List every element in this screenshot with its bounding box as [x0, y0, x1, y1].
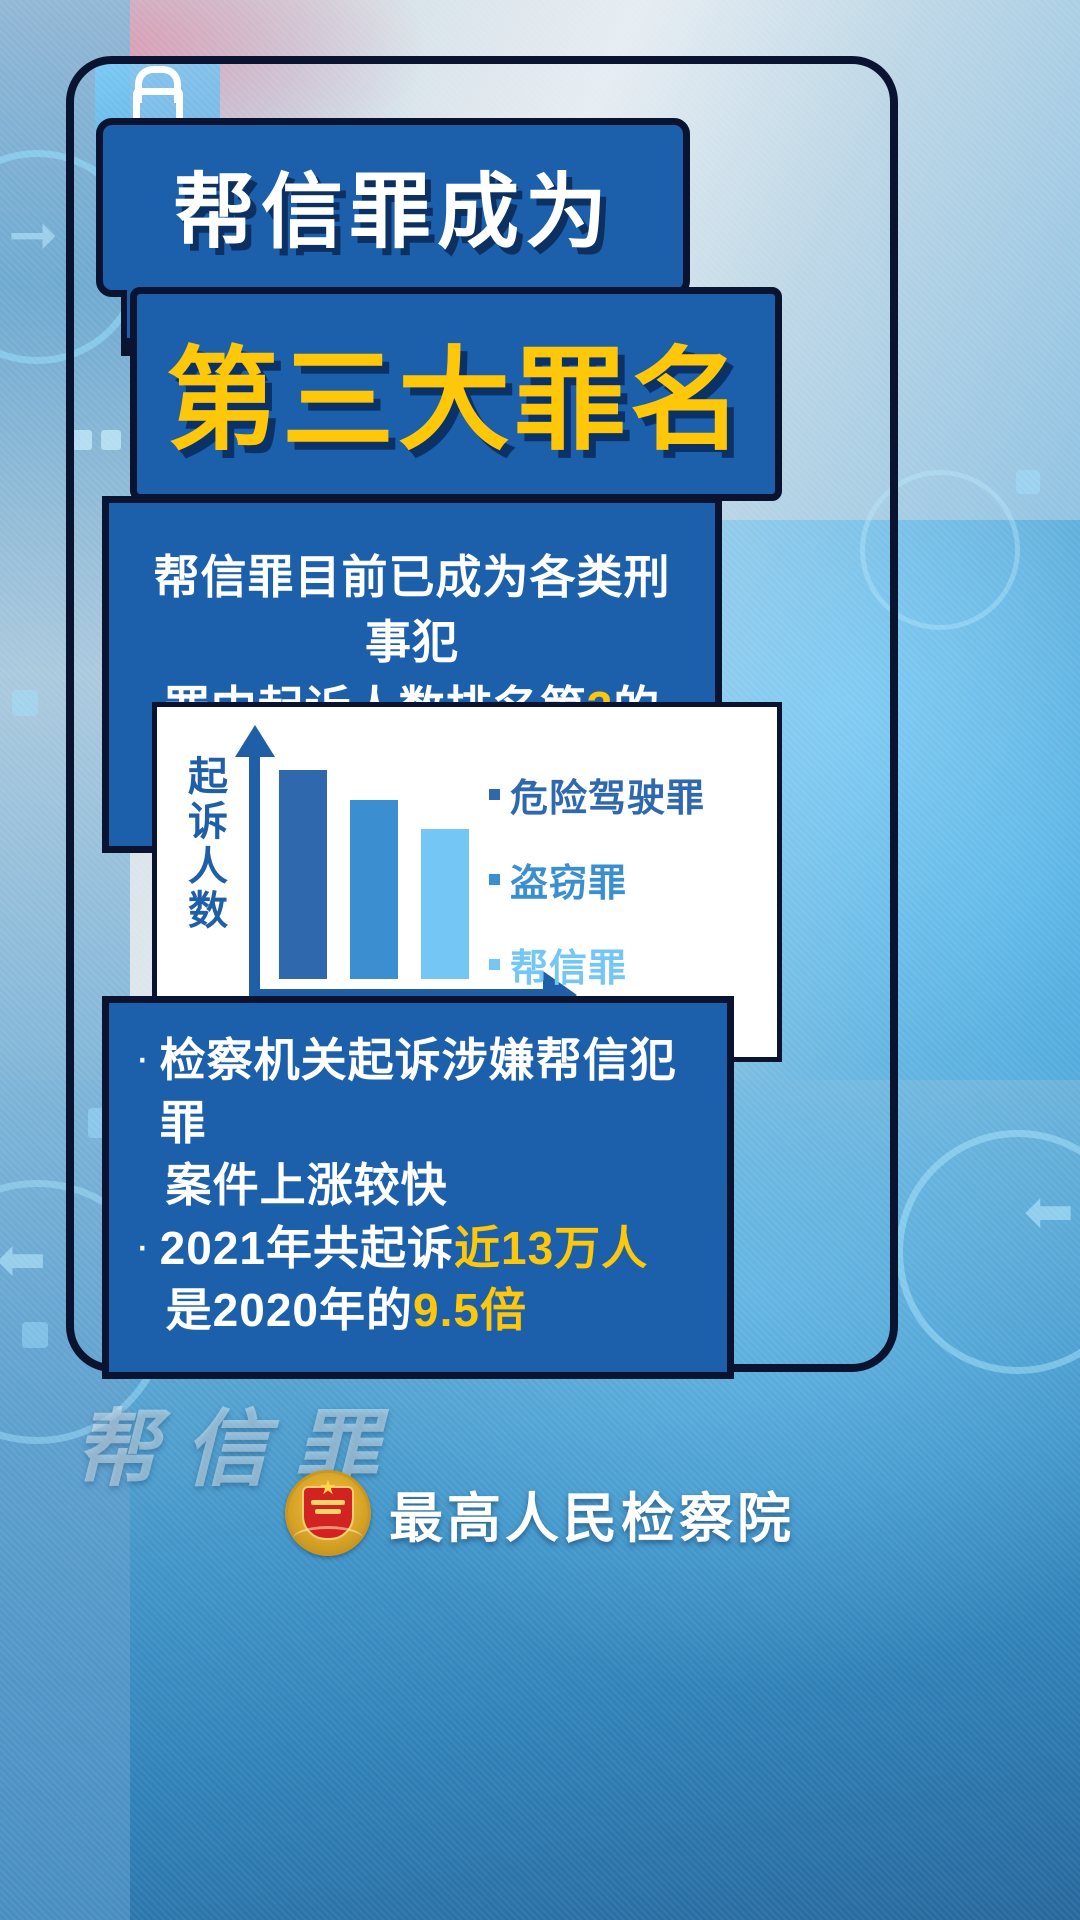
bullet-2-stat-multiple: 9.5倍 [413, 1284, 527, 1336]
title-banner-primary: 帮信罪成为 [96, 118, 690, 297]
bar-theft [350, 800, 398, 979]
legend-item-theft: 盗窃罪 [489, 852, 759, 907]
bullet-2-stat-people: 近13万人 [454, 1222, 648, 1274]
y-axis-char-1: 起 [181, 755, 235, 800]
procuratorate-emblem-icon: ★ [285, 1470, 371, 1556]
bullet-1-line-1: 检察机关起诉涉嫌帮信犯罪 [160, 1034, 677, 1149]
bullet-2-line-2-before: 是2020年的 [166, 1284, 413, 1336]
legend-label-theft: 盗窃罪 [510, 852, 627, 907]
bullet-marker-icon: · [135, 1029, 150, 1088]
summary-line-1: 帮信罪目前已成为各类刑事犯 [143, 545, 681, 676]
bar-group [279, 739, 469, 979]
bar-danger-driving [279, 770, 327, 979]
title-block: 帮信罪成为 第三大罪名 [96, 118, 768, 501]
legend-label-danger-driving: 危险驾驶罪 [510, 767, 705, 822]
legend-marker-icon [489, 874, 500, 885]
y-axis-line [249, 749, 260, 989]
emblem-bar [315, 1509, 341, 1514]
chart-legend: 危险驾驶罪 盗窃罪 帮信罪 [489, 767, 759, 1022]
bullet-marker-icon: · [135, 1217, 150, 1276]
legend-item-danger-driving: 危险驾驶罪 [489, 767, 759, 822]
title-banner-secondary: 第三大罪名 [130, 287, 782, 501]
bar-bangxin [421, 829, 469, 979]
bullet-2-line-1: 2021年共起诉近13万人 [160, 1222, 649, 1274]
legend-label-bangxin: 帮信罪 [510, 937, 627, 992]
legend-marker-icon [489, 959, 500, 970]
footer: ★ 最高人民检察院 [0, 1470, 1080, 1556]
key-facts-box: · 检察机关起诉涉嫌帮信犯罪 案件上涨较快 · 2021年共起诉近13万人 是2… [102, 996, 734, 1379]
bullet-2-line-2: 是2020年的9.5倍 [160, 1279, 649, 1342]
emblem-ring [293, 1526, 363, 1551]
title-line-1: 帮信罪成为 [103, 145, 683, 264]
bullet-2-text: 2021年共起诉近13万人 是2020年的9.5倍 [160, 1217, 649, 1342]
legend-item-bangxin: 帮信罪 [489, 937, 759, 992]
bullet-item-1: · 检察机关起诉涉嫌帮信犯罪 案件上涨较快 [135, 1029, 705, 1217]
bullet-1-text: 检察机关起诉涉嫌帮信犯罪 案件上涨较快 [160, 1029, 705, 1217]
bullet-1-line-2: 案件上涨较快 [160, 1154, 705, 1217]
legend-marker-icon [489, 789, 500, 800]
emblem-bar [311, 1500, 345, 1505]
title-line-2: 第三大罪名 [137, 310, 775, 472]
y-axis-char-4: 数 [181, 889, 235, 934]
bullet-2-line-1-before: 2021年共起诉 [160, 1222, 454, 1274]
chart-y-axis-label: 起 诉 人 数 [181, 755, 235, 934]
bullet-item-2: · 2021年共起诉近13万人 是2020年的9.5倍 [135, 1217, 705, 1342]
organization-name: 最高人民检察院 [389, 1474, 795, 1553]
y-axis-char-3: 人 [181, 845, 235, 890]
y-axis-char-2: 诉 [181, 800, 235, 845]
emblem-star-icon: ★ [319, 1478, 337, 1498]
